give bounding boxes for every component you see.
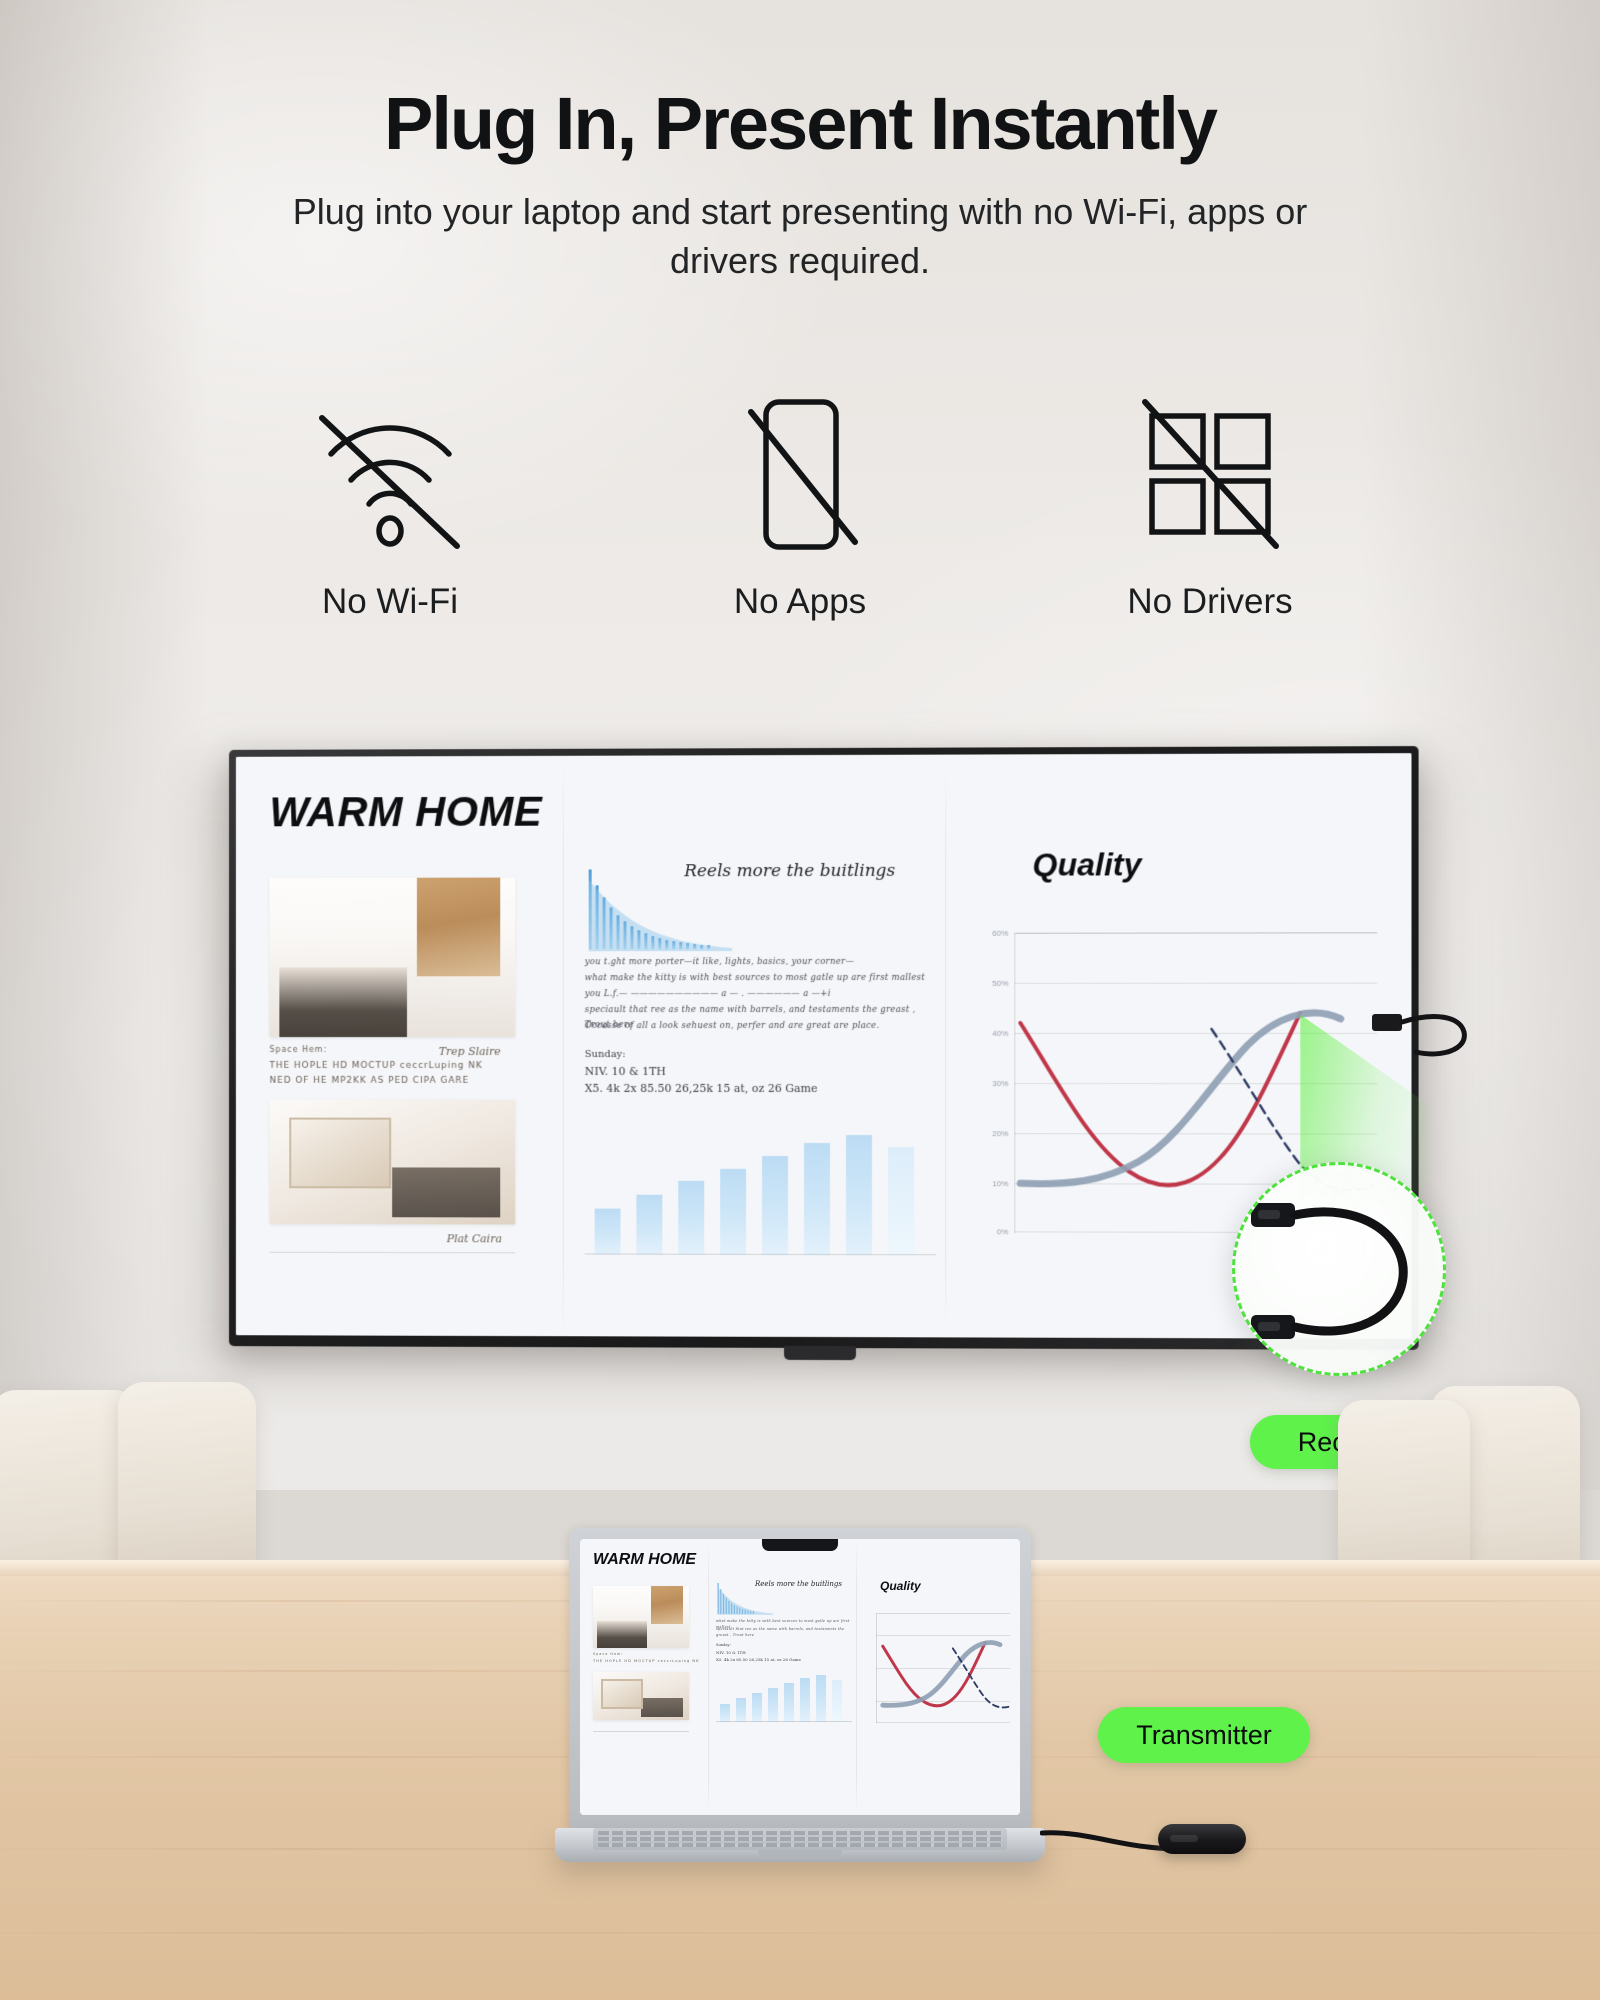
feature-no-wifi: No Wi-Fi <box>240 388 540 622</box>
laptop-script-heading: Reels more the buitlings <box>755 1580 842 1588</box>
feature-label: No Wi-Fi <box>240 582 540 622</box>
laptop-caption-line: THE HOPLE HD MOCTUP ceccrLuping NK <box>593 1659 699 1663</box>
divider-rule <box>593 1731 689 1732</box>
laptop-trackpad <box>758 1850 842 1857</box>
column-divider <box>945 755 946 1338</box>
header: Plug In, Present Instantly Plug into you… <box>0 0 1600 286</box>
laptop-slide-photo-kitchen <box>593 1586 689 1648</box>
page-subtitle: Plug into your laptop and start presenti… <box>245 188 1355 286</box>
receiver-callout-circle <box>1232 1162 1446 1376</box>
feature-list: No Wi-Fi No Apps <box>240 388 1360 622</box>
bar <box>762 1156 788 1255</box>
column-divider <box>563 756 564 1336</box>
laptop-presentation-slide: WARM HOME Space Hem: THE HOPLE HD MOCTUP… <box>580 1539 1020 1815</box>
laptop-slide-photo-living <box>593 1672 689 1720</box>
bar <box>846 1135 872 1255</box>
quality-chart-title: Quality <box>1032 846 1141 883</box>
no-apps-icon <box>650 388 950 560</box>
bar <box>720 1169 746 1255</box>
slide-body-line-5: Occasse of all a look sehuest on, perfer… <box>585 1019 934 1034</box>
slide-list-line-2: X5. 4k 2x 85.50 26,25k 15 at, oz 26 Game <box>585 1080 818 1098</box>
bar <box>678 1181 704 1255</box>
slide-footer-caption: Plat Caira <box>447 1232 502 1245</box>
feature-no-drivers: No Drivers <box>1060 388 1360 622</box>
caption-line-2: NED OF HE MP2KK AS PED CIPA GARE <box>269 1076 469 1086</box>
slide-photo-living <box>269 1100 515 1225</box>
laptop-screen: WARM HOME Space Hem: THE HOPLE HD MOCTUP… <box>580 1539 1020 1815</box>
bar-chart-axis <box>585 1253 936 1255</box>
bar <box>736 1698 746 1722</box>
column-divider <box>856 1539 857 1815</box>
slide-body-line-2: what make the kitty is with best sources… <box>585 971 934 986</box>
bar <box>720 1704 730 1722</box>
bar <box>752 1693 762 1722</box>
no-wifi-icon <box>240 388 540 560</box>
bar <box>768 1688 778 1722</box>
bar <box>832 1680 842 1722</box>
laptop-bar-chart <box>716 1672 852 1722</box>
page-title: Plug In, Present Instantly <box>0 86 1600 162</box>
caption-label: Space Hem: <box>269 1045 327 1054</box>
laptop-body-line-2: speciault that ree as the name with barr… <box>716 1627 852 1639</box>
laptop-notch <box>762 1539 838 1551</box>
bar <box>816 1675 826 1722</box>
laptop-list-line-1: NIV. 10 & 1TH <box>716 1650 746 1657</box>
laptop-caption: Space Hem: <box>593 1652 624 1656</box>
slide-bar-chart <box>585 1127 936 1255</box>
bar <box>800 1678 810 1722</box>
caption-line-1: THE HOPLE HD MOCTUP ceccrLuping NK <box>269 1061 482 1071</box>
bar-chart-axis <box>716 1721 852 1722</box>
bar <box>888 1147 914 1255</box>
laptop-list-label: Sunday: <box>716 1643 731 1649</box>
transmitter-dongle <box>1158 1824 1246 1854</box>
feature-no-apps: No Apps <box>650 388 950 622</box>
feature-label: No Drivers <box>1060 582 1360 622</box>
bar <box>636 1195 662 1255</box>
slide-list-label: Sunday: <box>585 1047 626 1063</box>
keyboard-row <box>598 1843 1002 1847</box>
bar <box>804 1143 830 1255</box>
bar <box>784 1683 794 1722</box>
slide-title: WARM HOME <box>269 788 542 836</box>
no-drivers-icon <box>1060 388 1360 560</box>
tv-stand <box>784 1346 856 1360</box>
receiver-closeup-svg <box>1235 1165 1446 1376</box>
photo-credit: Trep Slaire <box>439 1045 501 1058</box>
laptop-quality-title: Quality <box>880 1579 921 1593</box>
feature-label: No Apps <box>650 582 950 622</box>
slide-list-line-1: NIV. 10 & 1TH <box>585 1063 666 1081</box>
slide-photo-kitchen <box>269 878 515 1038</box>
keyboard-row <box>598 1831 1002 1835</box>
receiver-dongle <box>1372 1000 1502 1110</box>
badge-transmitter: Transmitter <box>1098 1707 1310 1763</box>
laptop: WARM HOME Space Hem: THE HOPLE HD MOCTUP… <box>555 1528 1045 1948</box>
laptop-lid: WARM HOME Space Hem: THE HOPLE HD MOCTUP… <box>569 1528 1031 1828</box>
receiver-cable-svg <box>1372 1000 1502 1110</box>
laptop-quality-curves-svg <box>866 1613 1016 1731</box>
keyboard-row <box>598 1837 1002 1841</box>
divider-rule <box>269 1252 515 1254</box>
slide-body-line-3: you L.f.— —————————— a — . —————— a —+i <box>585 987 934 1002</box>
column-divider <box>708 1539 709 1815</box>
bar <box>595 1209 621 1255</box>
laptop-keyboard <box>593 1828 1007 1850</box>
slide-body-line-1: you t.ght more porter—it like, lights, b… <box>585 955 934 970</box>
laptop-quality-chart <box>866 1613 1016 1731</box>
laptop-slide-title: WARM HOME <box>593 1551 696 1569</box>
slide-script-heading: Reels more the buitlings <box>684 861 895 881</box>
laptop-list-line-2: X5. 4k 2x 85.50 26,25k 15 at, oz 26 Game <box>716 1657 801 1664</box>
